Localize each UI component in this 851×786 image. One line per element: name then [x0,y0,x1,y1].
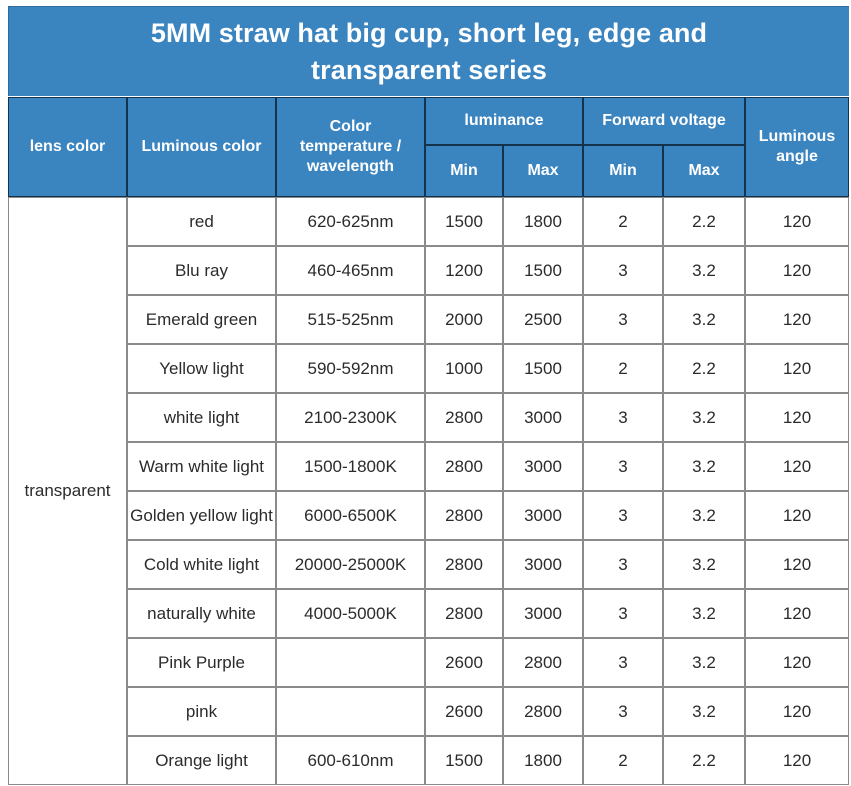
cell-color-temperature: 515-525nm [276,295,425,344]
cell-text: 3 [618,408,627,428]
cell-text: 3.2 [692,702,716,722]
cell-luminance-max: 1800 [503,197,583,246]
cell-text: 120 [783,457,811,477]
cell-color-temperature: 460-465nm [276,246,425,295]
cell-color-temperature: 620-625nm [276,197,425,246]
cell-lens-color: transparent [8,197,127,785]
cell-voltage-min: 2 [583,344,663,393]
cell-text: naturally white [147,604,256,624]
cell-text: 460-465nm [307,261,393,281]
cell-luminous-angle: 120 [745,589,849,638]
cell-text: Yellow light [159,359,243,379]
cell-text: 3.2 [692,457,716,477]
cell-luminance-min: 2800 [425,589,503,638]
cell-luminance-max: 3000 [503,540,583,589]
cell-text: 120 [783,212,811,232]
cell-luminance-max: 3000 [503,393,583,442]
column-header-lens-color: lens color [8,97,127,197]
cell-luminance-max: 2800 [503,687,583,736]
spec-sheet: 5MM straw hat big cup, short leg, edge a… [0,0,851,786]
cell-text: 120 [783,555,811,575]
cell-text: 2 [618,751,627,771]
cell-text: 3 [618,604,627,624]
cell-text: 2600 [445,653,483,673]
cell-text: 2800 [445,506,483,526]
column-header-color-temperature: Color temperature / wavelength [276,97,425,197]
cell-luminance-max: 2800 [503,638,583,687]
cell-text: 3 [618,261,627,281]
cell-text: 120 [783,359,811,379]
cell-text: Emerald green [146,310,258,330]
cell-voltage-max: 3.2 [663,687,745,736]
cell-luminance-min: 2800 [425,442,503,491]
cell-voltage-max: 3.2 [663,540,745,589]
cell-luminance-min: 2000 [425,295,503,344]
cell-luminance-max: 1500 [503,344,583,393]
cell-text: 120 [783,506,811,526]
cell-voltage-min: 3 [583,638,663,687]
cell-text: 2100-2300K [304,408,397,428]
cell-text: 590-592nm [307,359,393,379]
cell-text: 3 [618,506,627,526]
cell-color-temperature: 6000-6500K [276,491,425,540]
cell-text: 2 [618,359,627,379]
cell-voltage-max: 3.2 [663,491,745,540]
cell-text: pink [186,702,217,722]
cell-text: Warm white light [139,457,264,477]
page-title: 5MM straw hat big cup, short leg, edge a… [91,15,767,88]
cell-text: 3 [618,653,627,673]
cell-text: 2800 [445,457,483,477]
cell-luminous-color: red [127,197,276,246]
cell-text: Golden yellow light [130,506,273,526]
cell-text: white light [164,408,240,428]
cell-color-temperature [276,687,425,736]
cell-text: 1500-1800K [304,457,397,477]
column-header-luminance: luminance [425,97,583,145]
cell-text: 120 [783,653,811,673]
cell-text: 3.2 [692,408,716,428]
cell-text: 2 [618,212,627,232]
cell-text: 4000-5000K [304,604,397,624]
cell-text: 120 [783,751,811,771]
cell-text: 3000 [524,457,562,477]
cell-luminous-color: Golden yellow light [127,491,276,540]
cell-voltage-min: 2 [583,197,663,246]
cell-luminous-angle: 120 [745,246,849,295]
cell-text: 6000-6500K [304,506,397,526]
cell-text: 120 [783,702,811,722]
cell-text: 1800 [524,751,562,771]
cell-luminous-angle: 120 [745,197,849,246]
cell-text: 1500 [524,359,562,379]
table-body: transparentred620-625nm1500180022.2120Bl… [8,197,849,786]
cell-voltage-min: 3 [583,442,663,491]
column-header-voltage-min: Min [583,145,663,197]
cell-luminous-angle: 120 [745,638,849,687]
cell-text: 620-625nm [307,212,393,232]
cell-text: 3000 [524,408,562,428]
cell-luminance-min: 1500 [425,197,503,246]
cell-text: 2500 [524,310,562,330]
cell-text: 1200 [445,261,483,281]
cell-text: 515-525nm [307,310,393,330]
column-header-voltage-max: Max [663,145,745,197]
cell-text: Blu ray [175,261,228,281]
cell-text: 120 [783,261,811,281]
cell-luminance-max: 3000 [503,589,583,638]
cell-luminous-color: Blu ray [127,246,276,295]
cell-luminous-color: Pink Purple [127,638,276,687]
cell-voltage-min: 3 [583,393,663,442]
cell-voltage-max: 3.2 [663,638,745,687]
cell-luminance-min: 1200 [425,246,503,295]
cell-text: 3.2 [692,653,716,673]
cell-text: Orange light [155,751,248,771]
cell-text: 3 [618,457,627,477]
cell-text: Pink Purple [158,653,245,673]
cell-text: 3.2 [692,506,716,526]
cell-color-temperature: 2100-2300K [276,393,425,442]
cell-text: 2.2 [692,751,716,771]
cell-luminance-min: 1000 [425,344,503,393]
cell-luminous-color: pink [127,687,276,736]
title-banner: 5MM straw hat big cup, short leg, edge a… [8,6,849,96]
cell-luminance-max: 3000 [503,491,583,540]
column-header-luminous-color: Luminous color [127,97,276,197]
cell-voltage-min: 3 [583,540,663,589]
cell-text: Cold white light [144,555,259,575]
cell-voltage-max: 3.2 [663,295,745,344]
cell-text: 2.2 [692,212,716,232]
cell-voltage-max: 3.2 [663,442,745,491]
cell-text: 3.2 [692,604,716,624]
cell-luminance-min: 2800 [425,540,503,589]
column-header-luminance-min: Min [425,145,503,197]
cell-voltage-max: 2.2 [663,197,745,246]
cell-luminous-angle: 120 [745,540,849,589]
cell-luminance-min: 1500 [425,736,503,785]
cell-text: 120 [783,604,811,624]
table-header: lens color Luminous color Color temperat… [8,97,849,197]
cell-color-temperature: 1500-1800K [276,442,425,491]
cell-luminance-min: 2800 [425,491,503,540]
cell-lens-color-text: transparent [25,481,111,501]
cell-voltage-min: 3 [583,295,663,344]
cell-voltage-min: 3 [583,589,663,638]
cell-luminance-min: 2600 [425,687,503,736]
cell-text: 3.2 [692,261,716,281]
cell-text: 3 [618,702,627,722]
cell-luminous-color: Cold white light [127,540,276,589]
cell-luminous-angle: 120 [745,736,849,785]
cell-luminance-max: 2500 [503,295,583,344]
cell-voltage-min: 3 [583,687,663,736]
column-header-luminance-max: Max [503,145,583,197]
cell-color-temperature: 4000-5000K [276,589,425,638]
cell-text: 2.2 [692,359,716,379]
cell-luminance-min: 2800 [425,393,503,442]
cell-text: 1800 [524,212,562,232]
cell-luminance-min: 2600 [425,638,503,687]
cell-text: 1500 [445,212,483,232]
cell-text: 3.2 [692,310,716,330]
cell-text: 1500 [524,261,562,281]
cell-text: 120 [783,408,811,428]
cell-text: 3 [618,555,627,575]
cell-luminous-angle: 120 [745,491,849,540]
cell-voltage-max: 3.2 [663,589,745,638]
cell-voltage-max: 2.2 [663,344,745,393]
cell-voltage-max: 2.2 [663,736,745,785]
cell-text: 3 [618,310,627,330]
cell-text: 3000 [524,604,562,624]
cell-text: red [189,212,214,232]
cell-voltage-min: 2 [583,736,663,785]
cell-luminance-max: 1800 [503,736,583,785]
cell-luminous-color: Orange light [127,736,276,785]
cell-voltage-max: 3.2 [663,246,745,295]
cell-text: 2800 [445,604,483,624]
cell-text: 2600 [445,702,483,722]
cell-luminous-color: Warm white light [127,442,276,491]
cell-luminous-color: Emerald green [127,295,276,344]
cell-luminous-angle: 120 [745,295,849,344]
cell-color-temperature: 20000-25000K [276,540,425,589]
cell-luminous-color: white light [127,393,276,442]
column-header-forward-voltage: Forward voltage [583,97,745,145]
cell-text: 1000 [445,359,483,379]
cell-color-temperature: 600-610nm [276,736,425,785]
cell-luminous-angle: 120 [745,393,849,442]
cell-text: 1500 [445,751,483,771]
cell-luminous-color: Yellow light [127,344,276,393]
cell-text: 3000 [524,506,562,526]
cell-color-temperature: 590-592nm [276,344,425,393]
cell-luminance-max: 3000 [503,442,583,491]
cell-text: 20000-25000K [295,555,407,575]
cell-text: 3000 [524,555,562,575]
column-header-luminous-angle: Luminous angle [745,97,849,197]
cell-text: 3.2 [692,555,716,575]
cell-voltage-min: 3 [583,491,663,540]
cell-luminous-angle: 120 [745,442,849,491]
cell-text: 2800 [445,408,483,428]
cell-luminous-angle: 120 [745,687,849,736]
cell-text: 2000 [445,310,483,330]
cell-text: 2800 [524,653,562,673]
cell-color-temperature [276,638,425,687]
cell-luminous-angle: 120 [745,344,849,393]
cell-luminance-max: 1500 [503,246,583,295]
cell-text: 2800 [445,555,483,575]
cell-text: 2800 [524,702,562,722]
cell-voltage-min: 3 [583,246,663,295]
cell-voltage-max: 3.2 [663,393,745,442]
cell-luminous-color: naturally white [127,589,276,638]
cell-text: 600-610nm [307,751,393,771]
cell-text: 120 [783,310,811,330]
